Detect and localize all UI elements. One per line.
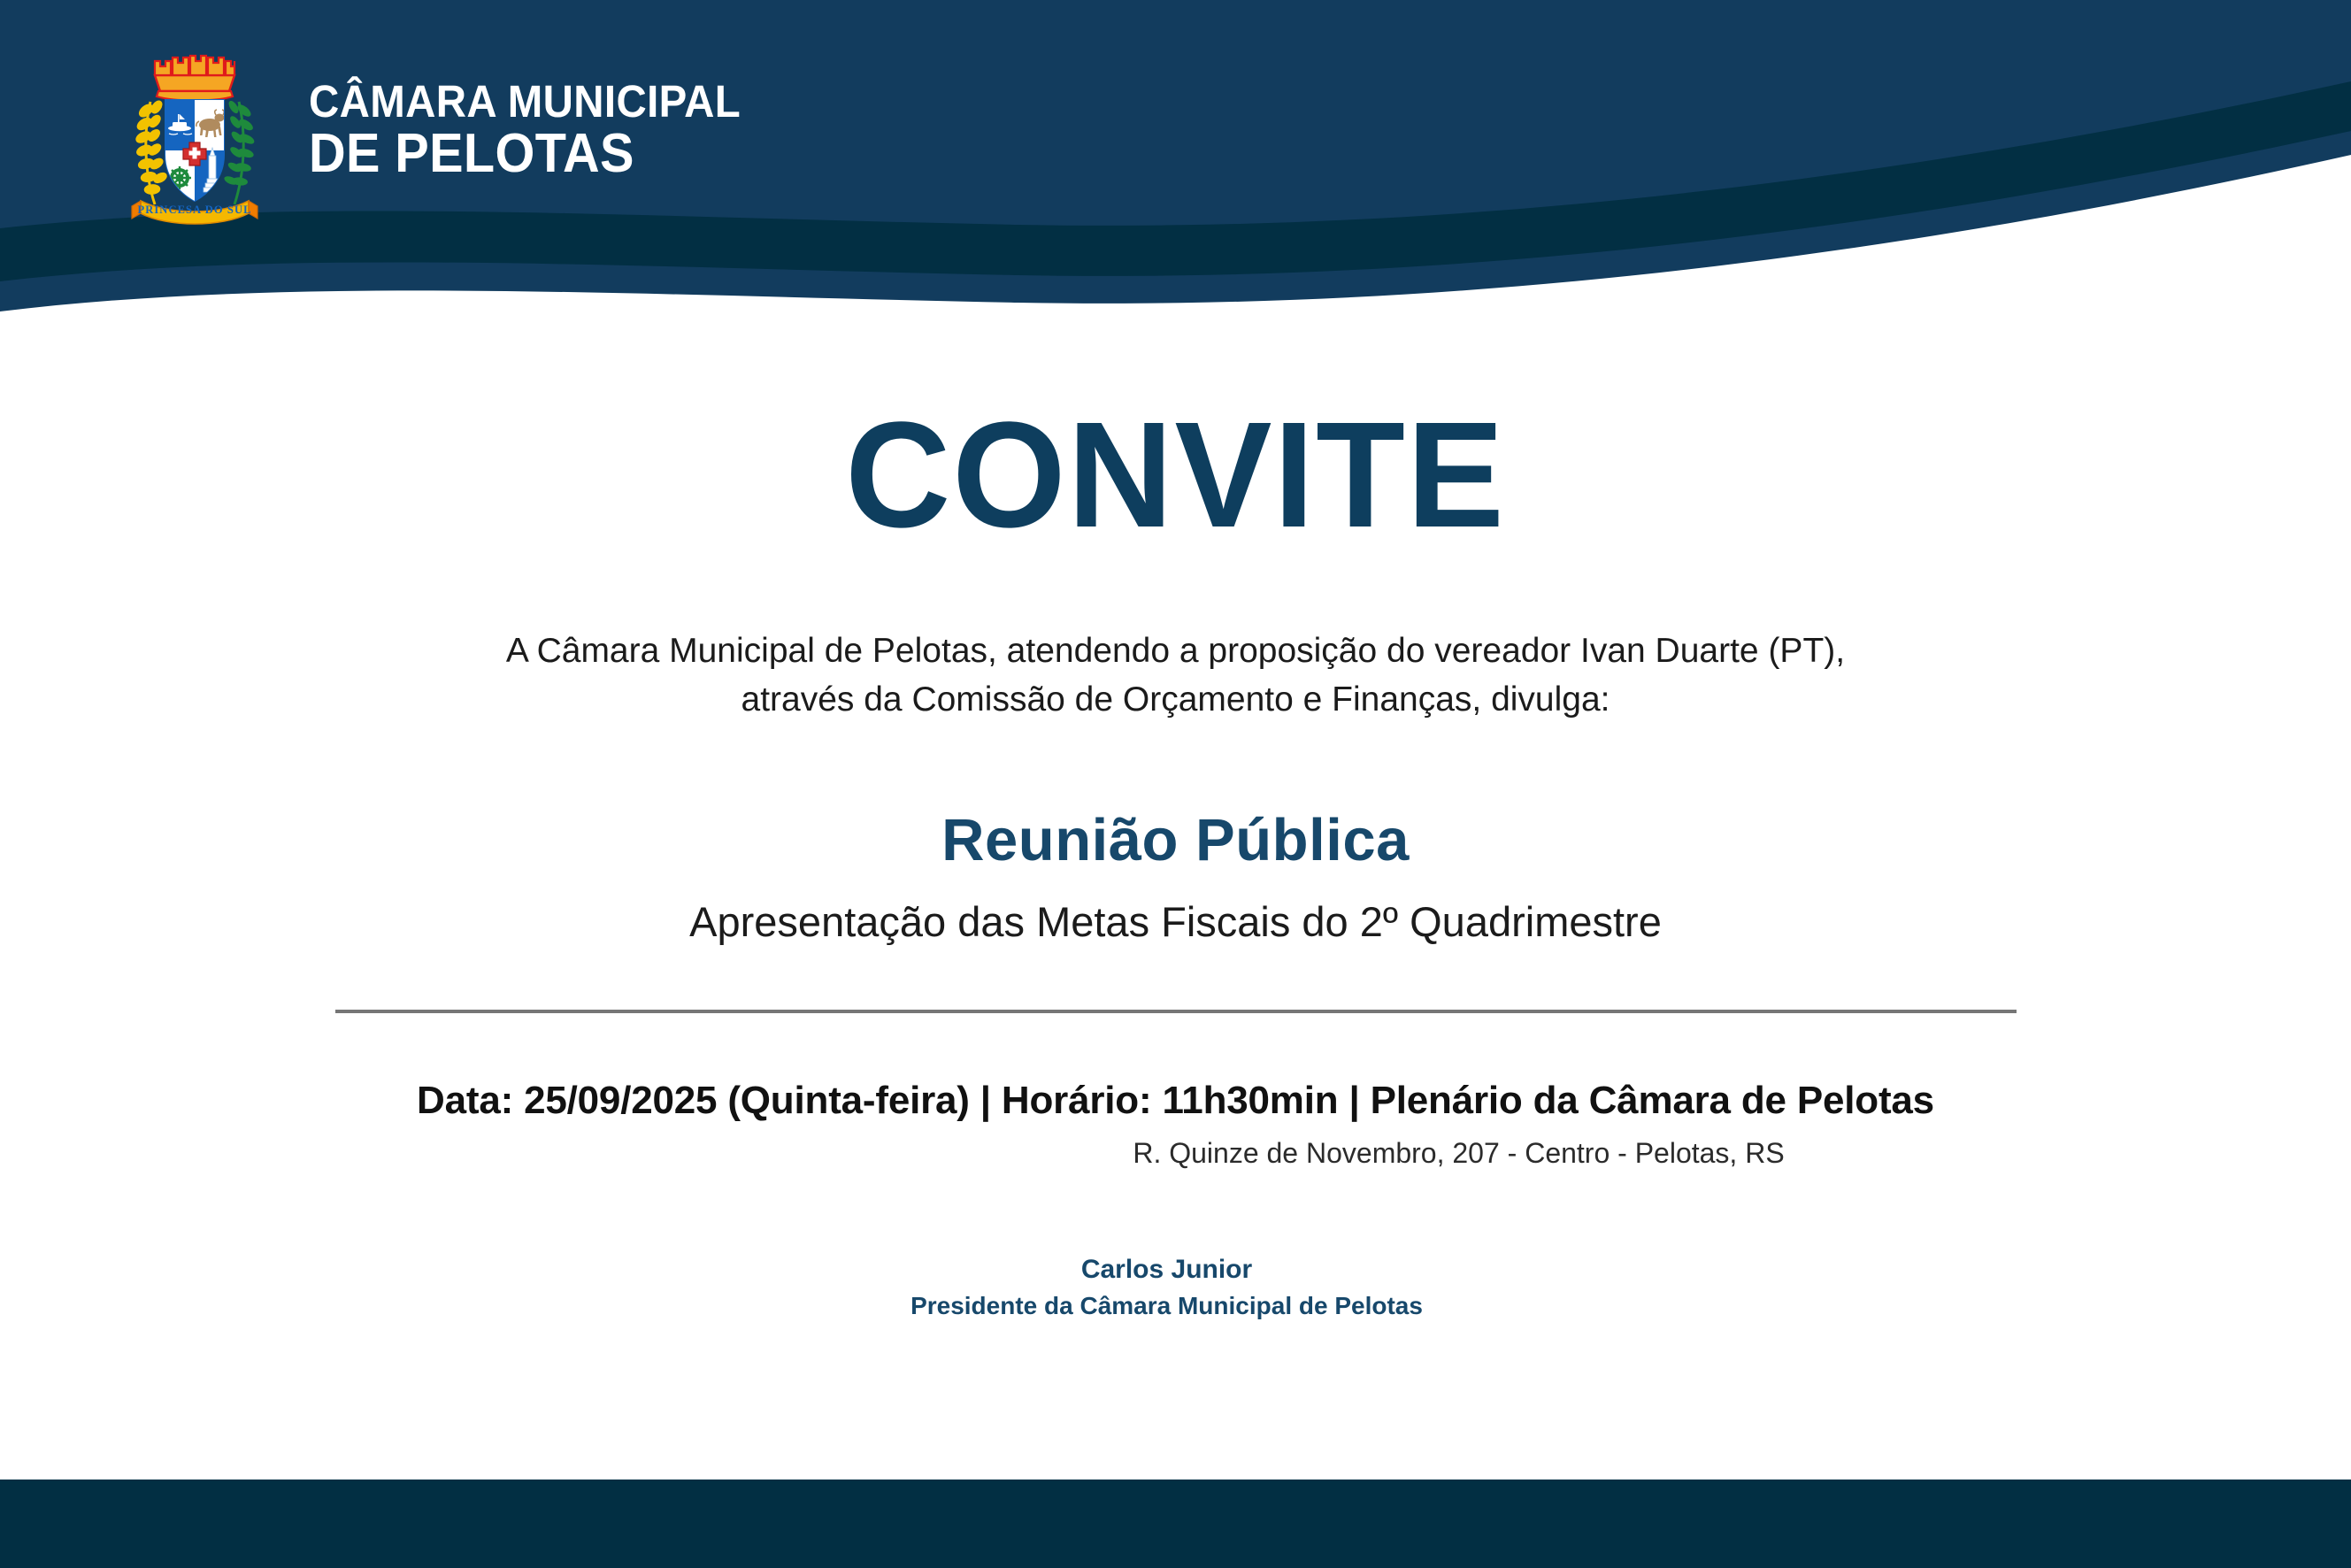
- wordmark-line-2: DE PELOTAS: [309, 127, 741, 181]
- intro-line-1: A Câmara Municipal de Pelotas, atendendo…: [0, 626, 2351, 675]
- institution-wordmark: CÂMARA MUNICIPAL DE PELOTAS: [309, 80, 773, 187]
- intro-line-2: através da Comissão de Orçamento e Finan…: [0, 675, 2351, 724]
- crest-ribbon: PRINCESA DO SUL: [132, 201, 257, 224]
- signatory-name: Carlos Junior: [0, 1255, 2351, 1285]
- coat-of-arms-icon: PRINCESA DO SUL: [119, 40, 270, 230]
- page-title: CONVITE: [35, 400, 2316, 550]
- invitation-body: CONVITE A Câmara Municipal de Pelotas, a…: [0, 336, 2351, 1320]
- header-content: PRINCESA DO SUL CÂMARA MUNICIPAL DE PELO…: [0, 0, 2351, 265]
- event-title: Reunião Pública: [0, 806, 2351, 874]
- section-divider: [335, 1010, 2017, 1013]
- event-subtitle: Apresentação das Metas Fiscais do 2º Qua…: [0, 897, 2351, 946]
- header-banner: PRINCESA DO SUL CÂMARA MUNICIPAL DE PELO…: [0, 0, 2351, 336]
- mural-crown: [155, 56, 234, 101]
- event-details-line: Data: 25/09/2025 (Quinta-feira) | Horári…: [0, 1079, 2351, 1123]
- intro-paragraph: A Câmara Municipal de Pelotas, atendendo…: [0, 626, 2351, 725]
- crest-shield: [165, 100, 225, 204]
- divider-container: [0, 1010, 2351, 1013]
- wordmark-line-1: CÂMARA MUNICIPAL: [309, 80, 741, 124]
- crest-ribbon-text: PRINCESA DO SUL: [137, 204, 251, 216]
- event-address-line: R. Quinze de Novembro, 207 - Centro - Pe…: [0, 1137, 2351, 1170]
- signature-block: Carlos Junior Presidente da Câmara Munic…: [0, 1255, 2351, 1320]
- invitation-poster: PRINCESA DO SUL CÂMARA MUNICIPAL DE PELO…: [0, 0, 2351, 1568]
- signatory-role: Presidente da Câmara Municipal de Pelota…: [0, 1292, 2351, 1320]
- footer-bar: [0, 1480, 2351, 1568]
